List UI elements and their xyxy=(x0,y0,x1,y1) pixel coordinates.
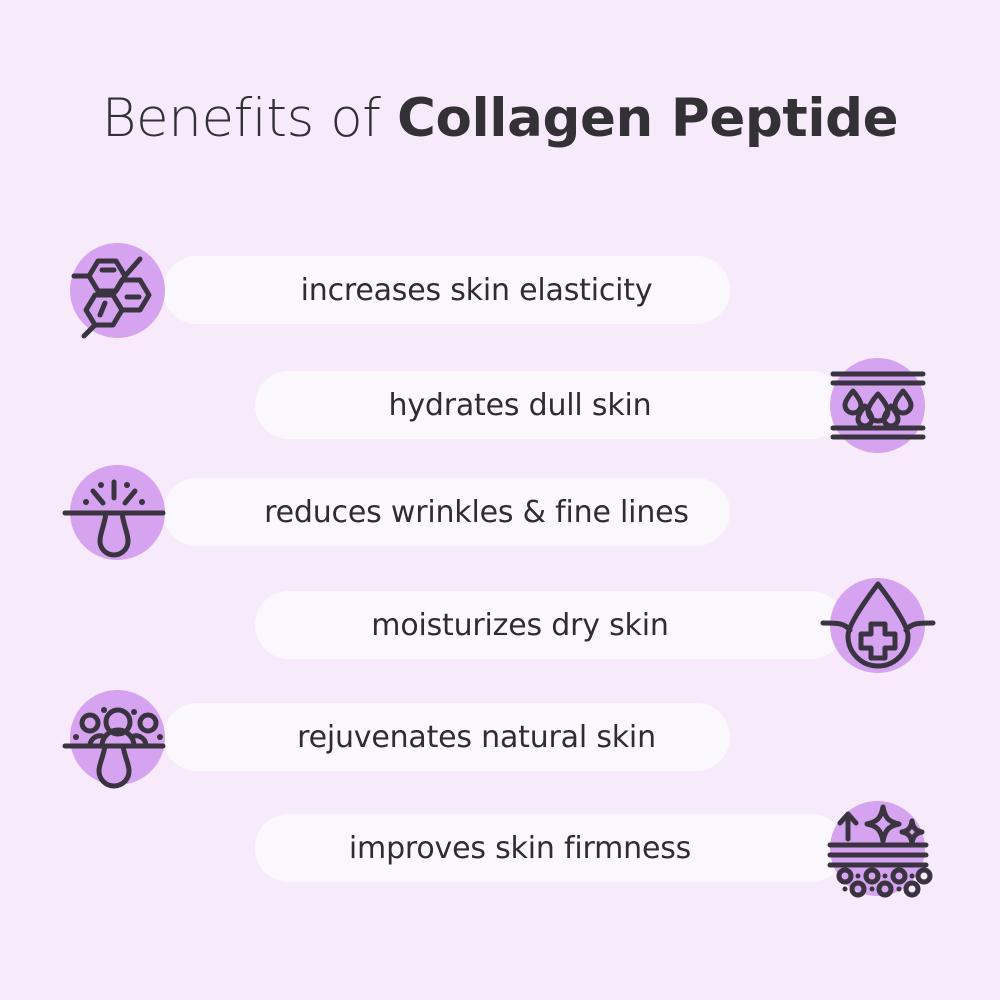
benefit-label-4: moisturizes dry skin xyxy=(371,608,668,643)
benefit-label-3: reduces wrinkles & fine lines xyxy=(264,495,689,530)
benefit-icon-bg-2 xyxy=(830,358,925,453)
infographic-page: Benefits of Collagen Peptide increases s… xyxy=(0,0,1000,1000)
benefit-label-5: rejuvenates natural skin xyxy=(297,720,656,755)
benefit-row-6: improves skin firmness xyxy=(0,788,1000,908)
benefit-icon-bg-1 xyxy=(70,243,165,338)
benefit-bar-5: rejuvenates natural skin xyxy=(163,703,730,771)
benefit-label-2: hydrates dull skin xyxy=(389,388,652,423)
benefit-bar-6: improves skin firmness xyxy=(255,814,845,882)
benefit-label-6: improves skin firmness xyxy=(349,831,691,866)
benefit-bar-1: increases skin elasticity xyxy=(163,256,730,324)
benefit-bar-4: moisturizes dry skin xyxy=(255,591,845,659)
benefit-row-4: moisturizes dry skin xyxy=(0,565,1000,685)
benefit-icon-bg-4 xyxy=(830,578,925,673)
benefit-row-5: rejuvenates natural skin xyxy=(0,677,1000,797)
benefit-row-3: reduces wrinkles & fine lines xyxy=(0,452,1000,572)
page-title-light: Benefits of xyxy=(102,88,397,149)
benefit-label-1: increases skin elasticity xyxy=(301,273,653,308)
benefit-row-2: hydrates dull skin xyxy=(0,345,1000,465)
page-title-bold: Collagen Peptide xyxy=(397,88,898,149)
benefit-icon-bg-5 xyxy=(70,690,165,785)
page-title: Benefits of Collagen Peptide xyxy=(0,92,1000,145)
benefit-bar-2: hydrates dull skin xyxy=(255,371,845,439)
benefit-row-1: increases skin elasticity xyxy=(0,230,1000,350)
benefit-icon-bg-3 xyxy=(70,465,165,560)
benefit-bar-3: reduces wrinkles & fine lines xyxy=(163,478,730,546)
benefit-icon-bg-6 xyxy=(830,801,925,896)
